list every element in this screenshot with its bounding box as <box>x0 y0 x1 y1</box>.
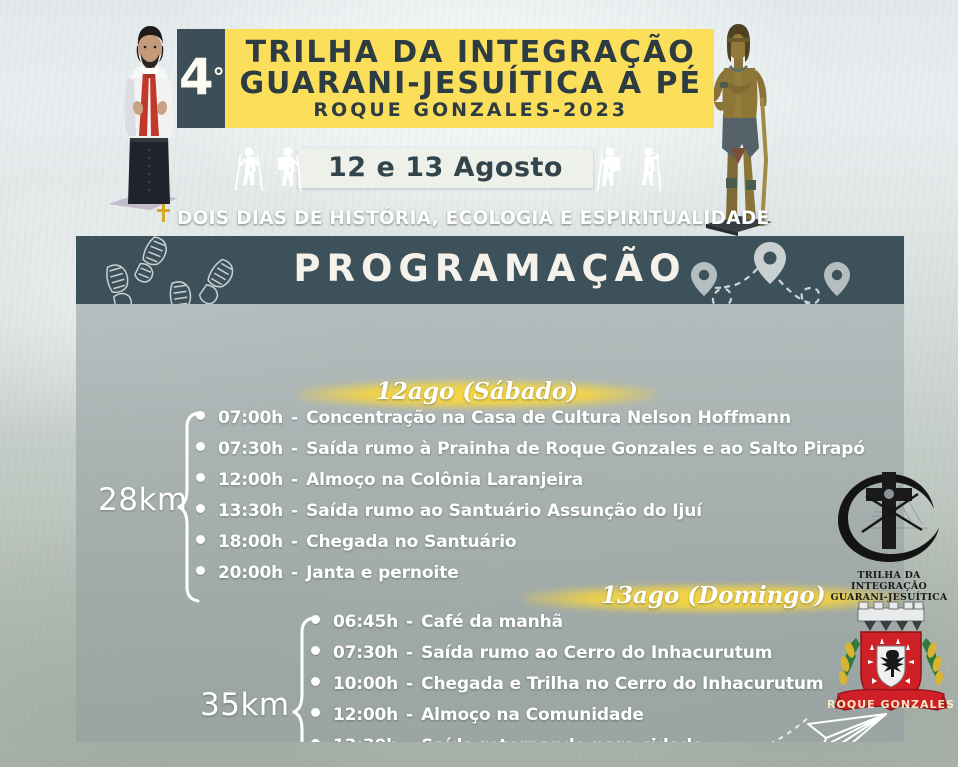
item-time: 07:30h <box>218 439 283 459</box>
bullet-icon <box>196 442 205 451</box>
program-title: PROGRAMAÇÃO <box>76 247 904 290</box>
item-dash: - <box>406 705 413 725</box>
roque-gonzales-coat-of-arms-icon: ROQUE GONZALES <box>828 598 954 730</box>
item-description: Saída rumo à Prainha de Roque Gonzales e… <box>306 439 865 459</box>
item-description: Chegada e Trilha no Cerro do Inhacurutum <box>421 674 823 694</box>
item-time: 12:00h <box>218 470 283 490</box>
edition-degree-symbol: ° <box>213 63 224 91</box>
program-body: 12ago (Sábado) 28km 07:00h - Concentraçã… <box>76 304 904 742</box>
item-dash: - <box>291 408 298 428</box>
schedule-item: 12:00h - Almoço na Colônia Laranjeira <box>196 470 865 501</box>
schedule-item: 07:00h - Concentração na Casa de Cultura… <box>196 408 865 439</box>
municipal-coat-of-arms: ROQUE GONZALES <box>828 598 954 730</box>
bullet-icon <box>196 411 205 420</box>
bullet-icon <box>311 677 320 686</box>
schedule-list-day1: 07:00h - Concentração na Casa de Cultura… <box>196 408 865 594</box>
bullet-icon <box>196 473 205 482</box>
item-time: 20:00h <box>218 563 283 583</box>
day-heading-saturday: 12ago (Sábado) <box>376 378 578 405</box>
title-line-1: TRILHA DA INTEGRAÇÃO <box>239 37 702 68</box>
trail-logo-line-1: TRILHA DA INTEGRAÇÃO <box>826 571 952 593</box>
title-yellow-band: TRILHA DA INTEGRAÇÃO GUARANI-JESUÍTICA A… <box>225 29 714 128</box>
schedule-item: 12:00h - Almoço na Comunidade <box>311 705 824 736</box>
poster-canvas: 4° TRILHA DA INTEGRAÇÃO GUARANI-JESUÍTIC… <box>0 0 958 767</box>
schedule-item: 13:30h - Saída rumo ao Santuário Assunçã… <box>196 501 865 532</box>
item-time: 10:00h <box>333 674 398 694</box>
item-description: Concentração na Casa de Cultura Nelson H… <box>306 408 791 428</box>
distance-label-day2: 35km <box>200 687 290 723</box>
item-time: 12:00h <box>333 705 398 725</box>
item-dash: - <box>406 643 413 663</box>
program-header-band: PROGRAMAÇÃO <box>76 236 904 304</box>
item-dash: - <box>406 674 413 694</box>
coat-banner-text: ROQUE GONZALES <box>828 698 954 711</box>
distance-label-day1: 28km <box>98 482 188 518</box>
poster-title-block: 4° TRILHA DA INTEGRAÇÃO GUARANI-JESUÍTIC… <box>177 29 714 128</box>
item-description: Saída retornando para cidade <box>421 736 704 742</box>
item-description: Chegada no Santuário <box>306 532 516 552</box>
item-dash: - <box>291 470 298 490</box>
item-description: Almoço na Comunidade <box>421 705 644 725</box>
schedule-item: 07:30h - Saída rumo ao Cerro do Inhacuru… <box>311 643 824 674</box>
schedule-item: 18:00h - Chegada no Santuário <box>196 532 865 563</box>
bullet-icon <box>196 504 205 513</box>
bullet-icon <box>311 646 320 655</box>
item-time: 13:30h <box>218 501 283 521</box>
item-description: Café da manhã <box>421 612 563 632</box>
item-dash: - <box>291 532 298 552</box>
edition-number: 4 <box>179 48 213 106</box>
bullet-icon <box>196 535 205 544</box>
trail-logo: TRILHA DA INTEGRAÇÃO GUARANI-JESUÍTICA <box>826 462 952 598</box>
hiker-icons-right <box>594 143 666 193</box>
trail-cross-crescent-icon <box>826 462 952 568</box>
item-time: 18:00h <box>218 532 283 552</box>
edition-number-badge: 4° <box>177 29 225 128</box>
item-time: 07:30h <box>333 643 398 663</box>
schedule-item: 13:30h - Saída retornando para cidade <box>311 736 824 742</box>
item-description: Almoço na Colônia Laranjeira <box>306 470 583 490</box>
item-description: Saída rumo ao Cerro do Inhacurutum <box>421 643 772 663</box>
hiker-with-backpack-icon <box>270 145 304 193</box>
hiker-with-poles-icon <box>632 145 666 193</box>
item-dash: - <box>291 563 298 583</box>
event-date-badge: 12 e 13 Agosto <box>298 148 593 188</box>
date-strip: 12 e 13 Agosto <box>177 143 714 193</box>
item-time: 07:00h <box>218 408 283 428</box>
item-dash: - <box>406 736 413 742</box>
day-heading-sunday: 13ago (Domingo) <box>601 582 826 609</box>
poster-tagline: DOIS DIAS DE HISTÓRIA, ECOLOGIA E ESPIRI… <box>177 208 714 229</box>
schedule-item: 07:30h - Saída rumo à Prainha de Roque G… <box>196 439 865 470</box>
bullet-icon <box>311 739 320 742</box>
item-dash: - <box>291 501 298 521</box>
schedule-item: 06:45h - Café da manhã <box>311 612 824 643</box>
item-description: Janta e pernoite <box>306 563 459 583</box>
item-dash: - <box>291 439 298 459</box>
program-panel: PROGRAMAÇÃO 12ago (Sábado) 28km 07:00h -… <box>76 236 904 742</box>
schedule-list-day2: 06:45h - Café da manhã 07:30h - Saída ru… <box>311 612 824 742</box>
item-description: Saída rumo ao Santuário Assunção do Ijuí <box>306 501 702 521</box>
hiker-icons-left <box>232 143 304 193</box>
title-line-2: GUARANI-JESUÍTICA A PÉ <box>239 68 702 99</box>
item-time: 13:30h <box>333 736 398 742</box>
schedule-item: 10:00h - Chegada e Trilha no Cerro do In… <box>311 674 824 705</box>
bullet-icon <box>311 615 320 624</box>
bullet-icon <box>196 566 205 575</box>
bullet-icon <box>311 708 320 717</box>
item-time: 06:45h <box>333 612 398 632</box>
item-dash: - <box>406 612 413 632</box>
hiker-with-backpack-icon <box>594 145 628 193</box>
title-line-3: ROQUE GONZALES-2023 <box>239 101 702 121</box>
hiker-with-poles-icon <box>232 145 266 193</box>
